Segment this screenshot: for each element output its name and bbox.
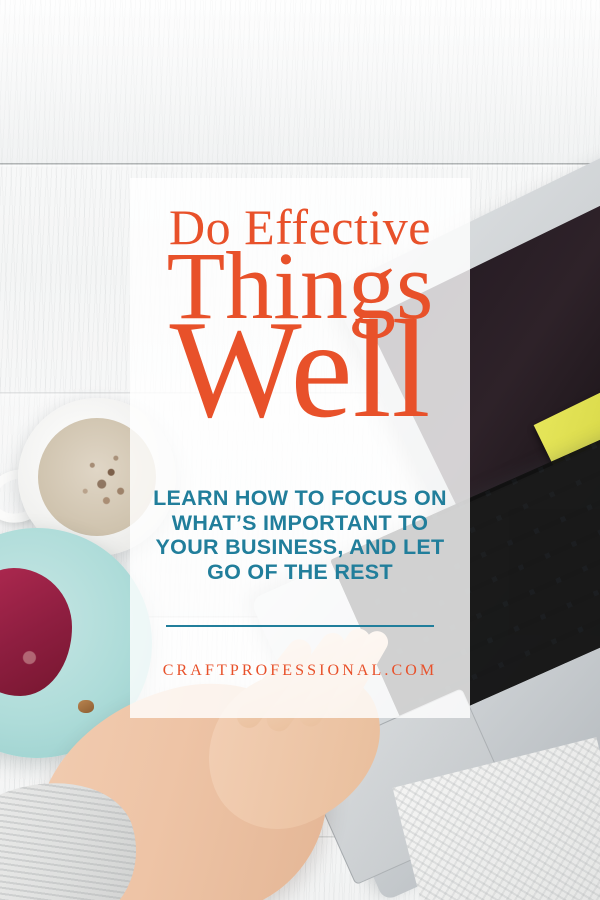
- pinterest-pin-graphic: Do Effective Things Well LEARN HOW TO FO…: [0, 0, 600, 900]
- plank-shading: [0, 0, 600, 163]
- headline-line-3: Well: [130, 306, 470, 435]
- subtitle: LEARN HOW TO FOCUS ON WHAT’S IMPORTANT T…: [148, 486, 452, 584]
- headline: Do Effective Things Well: [130, 204, 470, 435]
- website-url: CRAFTPROFESSIONAL.COM: [130, 662, 470, 680]
- plank-seam: [0, 163, 600, 165]
- crumb: [78, 700, 94, 713]
- text-overlay-card: Do Effective Things Well LEARN HOW TO FO…: [130, 178, 470, 718]
- divider-rule: [166, 625, 434, 627]
